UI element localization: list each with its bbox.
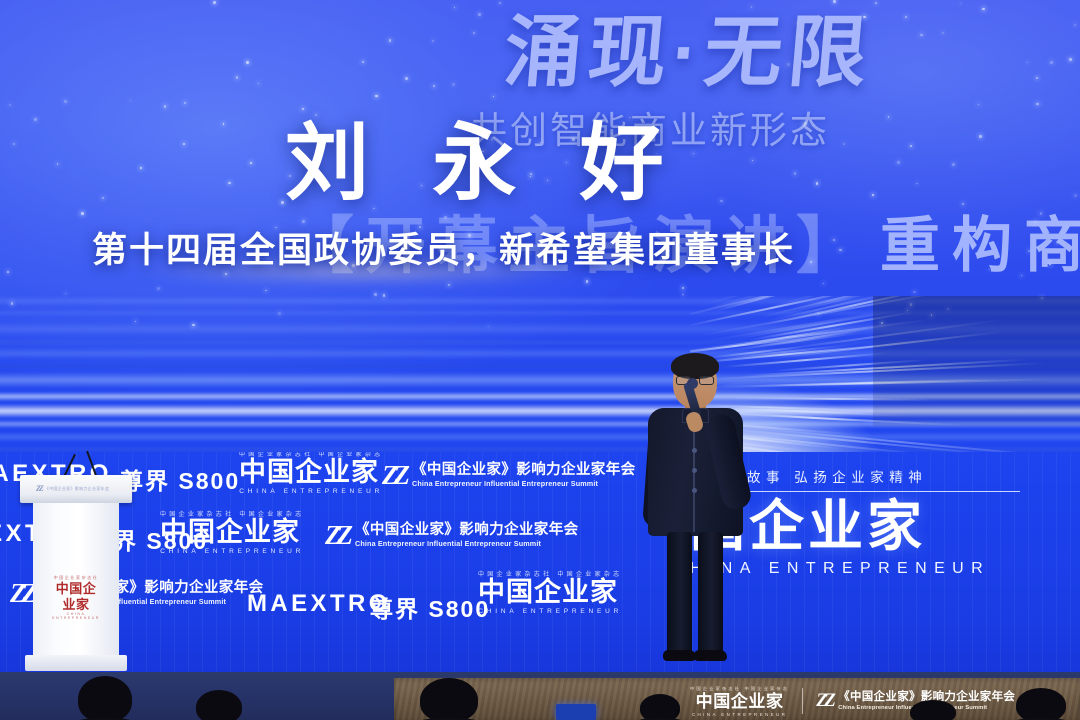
speaker-title-overlay: 第十四届全国政协委员，新希望集团董事长 — [92, 222, 795, 273]
speaker-figure — [630, 356, 760, 672]
audience-phone-screen — [556, 704, 596, 720]
podium-summit-mark-icon: ZZ — [36, 484, 42, 493]
speaker-legs — [667, 532, 725, 660]
wall-logo-summit-cn: 《中国企业家》影响力企业家年会 — [412, 462, 636, 479]
wall-logo-summit-en: China Entrepreneur Influential Entrepren… — [355, 539, 579, 548]
podium-front-logo: 中国企业家杂志社 中国企业家 CHINA ENTREPRENEUR — [52, 575, 100, 620]
podium-front-bottom-line: CHINA ENTREPRENEUR — [52, 612, 100, 620]
wall-logo-magazine-bottom: CHINA ENTREPRENEUR — [239, 487, 383, 496]
podium-top-surface: ZZ 《中国企业家》影响力企业家年会 — [20, 475, 132, 503]
stage-front-magazine-bottom: CHINA ENTREPRENEUR — [690, 712, 789, 717]
speaker-jacket-button — [692, 448, 697, 453]
audience-head — [196, 690, 242, 720]
wall-logo-magazine: 中国企业家杂志社 中国企业家杂志中国企业家CHINA ENTREPRENEUR — [239, 452, 383, 496]
stage-front-logo-bar: 中国企业家杂志社 中国企业家杂志 中国企业家 CHINA ENTREPRENEU… — [690, 686, 1015, 717]
summit-mark-icon: ZZ — [325, 523, 348, 547]
wall-logo-summit-cn: 《中国企业家》影响力企业家年会 — [355, 522, 579, 539]
podium-front-title: 中国企业家 — [52, 581, 100, 612]
audience-head — [910, 700, 956, 720]
wall-logo-magazine-top: 中国企业家杂志社 中国企业家杂志 — [239, 452, 383, 458]
summit-mark-icon: ZZ — [382, 463, 405, 487]
wall-logo-summit: ZZ《中国企业家》影响力企业家年会China Entrepreneur Infl… — [325, 522, 579, 548]
logo-divider — [802, 688, 803, 714]
speaker-name-overlay: 刘 永 好 — [285, 96, 684, 217]
wall-logo-magazine-title: 中国企业家 — [239, 458, 383, 487]
podium-base — [25, 655, 127, 671]
wall-logo-magazine: 中国企业家杂志社 中国企业家杂志中国企业家CHINA ENTREPRENEUR — [160, 512, 304, 556]
backdrop-headline: 涌现·无限 — [500, 0, 878, 102]
wall-logo-summit: ZZ《中国企业家》影响力企业家年会China Entrepreneur Infl… — [382, 462, 636, 488]
wall-logo-magazine-bottom: CHINA ENTREPRENEUR — [160, 547, 304, 556]
wall-logo-magazine-title: 中国企业家 — [478, 578, 622, 607]
stage-front-magazine-title: 中国企业家 — [690, 692, 789, 712]
podium-top-logo: ZZ 《中国企业家》影响力企业家年会 — [36, 484, 109, 493]
wall-logo-zunjie-s800: 尊界 S800 — [120, 462, 240, 496]
speaker-leg — [698, 532, 723, 654]
audience-head — [1016, 688, 1066, 720]
podium-body: 中国企业家杂志社 中国企业家 CHINA ENTREPRENEUR — [33, 503, 119, 655]
wall-logo-summit-en: China Entrepreneur Influential Entrepren… — [412, 479, 636, 488]
wall-logo-magazine: 中国企业家杂志社 中国企业家杂志中国企业家CHINA ENTREPRENEUR — [478, 572, 622, 616]
summit-mark-icon: ZZ — [10, 581, 33, 605]
stage-front-magazine-logo: 中国企业家杂志社 中国企业家杂志 中国企业家 CHINA ENTREPRENEU… — [690, 686, 789, 717]
speaker-jacket-button — [692, 468, 697, 473]
audience-head — [640, 694, 680, 720]
podium-top-text: 《中国企业家》影响力企业家年会 — [45, 486, 110, 492]
speaker-jacket-placket — [693, 422, 695, 532]
wall-logo-magazine-bottom: CHINA ENTREPRENEUR — [478, 607, 622, 616]
wall-logo-zunjie-s800: 尊界 S800 — [370, 590, 490, 624]
wall-logo-magazine-top: 中国企业家杂志社 中国企业家杂志 — [160, 512, 304, 518]
speaker-shoe — [663, 650, 696, 661]
speaker-leg — [667, 532, 692, 654]
audience-head — [78, 676, 132, 720]
wall-logo-magazine-top: 中国企业家杂志社 中国企业家杂志 — [478, 572, 622, 578]
wall-logo-magazine-title: 中国企业家 — [160, 518, 304, 547]
led-panel-seam — [873, 296, 1080, 426]
backdrop-right-fragment: 重构商 — [880, 197, 1080, 284]
audience-head — [420, 678, 478, 720]
speaker-jacket-button — [692, 488, 697, 493]
podium-front-top-line: 中国企业家杂志社 — [52, 575, 100, 581]
podium: ZZ 《中国企业家》影响力企业家年会 中国企业家杂志社 中国企业家 CHINA … — [33, 475, 119, 673]
conference-stage-photo: 涌现·无限 共创智能商业新形态 【开幕主旨演讲】 重构商 MAEXTRO尊界 S… — [0, 0, 1080, 720]
speaker-shoe — [694, 650, 727, 661]
summit-mark-icon: ZZ — [816, 690, 832, 712]
